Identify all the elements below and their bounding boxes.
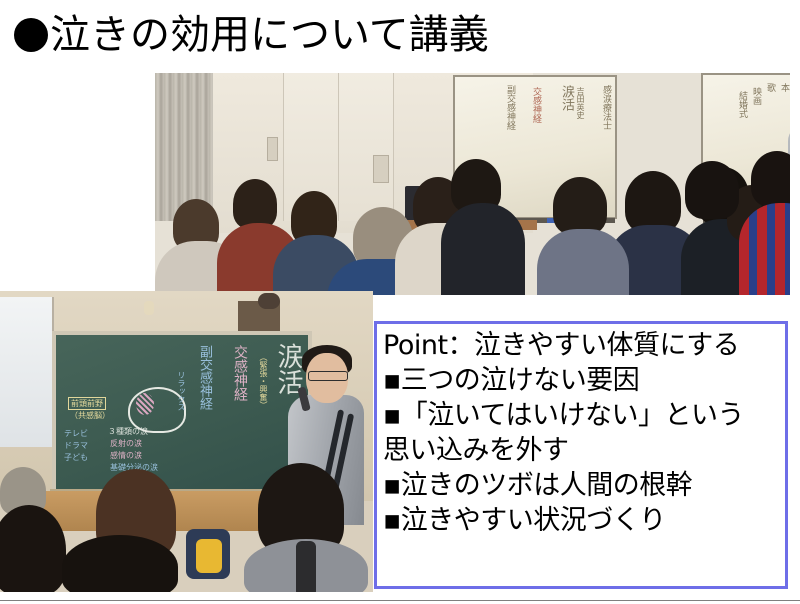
point-line-item: ▪「泣いてはいけない」という xyxy=(383,398,783,433)
point-line-heading: Point：泣きやすい体質にする xyxy=(383,328,783,363)
point-text-box: Point：泣きやすい体質にする ▪三つの泣けない要因 ▪「泣いてはいけない」と… xyxy=(374,321,788,589)
wall-lamp xyxy=(144,301,154,315)
blackboard-text: 感情の涙 xyxy=(110,451,142,460)
whiteboard-text: 交感神経 xyxy=(531,87,541,123)
curtain xyxy=(155,73,213,221)
audience-body xyxy=(441,203,525,295)
audience-head xyxy=(62,535,178,592)
speaker-horn xyxy=(258,293,280,309)
whiteboard-text: 結婚式 xyxy=(737,91,747,118)
teacher-glasses xyxy=(308,371,348,381)
blackboard-text: 反射の涙 xyxy=(110,439,142,448)
point-line-item: ▪泣きやすい状況づくり xyxy=(383,503,783,538)
audience-head xyxy=(233,179,277,229)
blackboard-classroom-photo: 涙活 （緊張・興奮） 交感神経 副交感神経 リラックス 前頭前野 （共感脳） テ… xyxy=(0,291,373,592)
switch-plate xyxy=(267,137,278,161)
blackboard-text: 副交感神経 xyxy=(197,345,212,410)
title-bullet-icon xyxy=(14,18,48,52)
title-text: 泣きの効用について講義 xyxy=(50,12,489,58)
shoulder-strap xyxy=(296,541,316,592)
audience-body xyxy=(537,229,629,295)
whiteboard-text: 歌 xyxy=(765,83,775,92)
audience-head xyxy=(625,171,681,233)
blackboard-text: リラックス xyxy=(177,371,186,411)
point-line-item: ▪三つの泣けない要因 xyxy=(383,363,783,398)
whiteboard-text: 本 xyxy=(779,83,789,92)
whiteboard-text: 涙活 xyxy=(561,85,571,111)
whiteboard-text: 吉田英史 xyxy=(575,87,585,119)
audience-head xyxy=(553,177,607,235)
audience-head xyxy=(751,151,790,207)
bottom-spacer xyxy=(0,592,374,600)
page-title: 泣きの効用について講義 xyxy=(14,6,489,64)
blackboard-text: 前頭前野 xyxy=(68,397,106,410)
blackboard-text: （緊張・興奮） xyxy=(259,353,268,409)
blackboard-text: テレビ xyxy=(64,429,88,438)
point-line-item: ▪泣きのツボは人間の根幹 xyxy=(383,468,783,503)
point-list: Point：泣きやすい体質にする ▪三つの泣けない要因 ▪「泣いてはいけない」と… xyxy=(383,328,783,538)
point-line-continuation: 思い込みを外す xyxy=(383,433,783,468)
whiteboard-text: 映画 xyxy=(751,87,761,105)
blackboard-text: （共感脳） xyxy=(70,411,110,420)
blackboard-text: 交感神経 xyxy=(232,345,248,401)
switch-plate xyxy=(373,155,389,183)
slide-canvas: 泣きの効用について講義 感涙療法士 吉田英史 涙活 交感神経 副交感神経 本 歌… xyxy=(0,0,800,604)
whiteboard-text: 副交感神経 xyxy=(505,85,515,130)
lecture-room-photo: 感涙療法士 吉田英史 涙活 交感神経 副交感神経 本 歌 映画 結婚式 リウ 講… xyxy=(155,73,790,295)
backpack-accent xyxy=(196,539,222,573)
bottom-divider xyxy=(0,600,800,601)
blackboard-text: ３種類の涙 xyxy=(108,427,148,436)
window xyxy=(0,297,54,447)
audience-head xyxy=(685,161,739,219)
blackboard-text: 子ども xyxy=(64,453,88,462)
whiteboard-text: 感涙療法士 xyxy=(601,85,611,130)
door-panel xyxy=(338,73,394,221)
blackboard-text: ドラマ xyxy=(64,441,88,450)
brain-shading xyxy=(136,393,154,415)
